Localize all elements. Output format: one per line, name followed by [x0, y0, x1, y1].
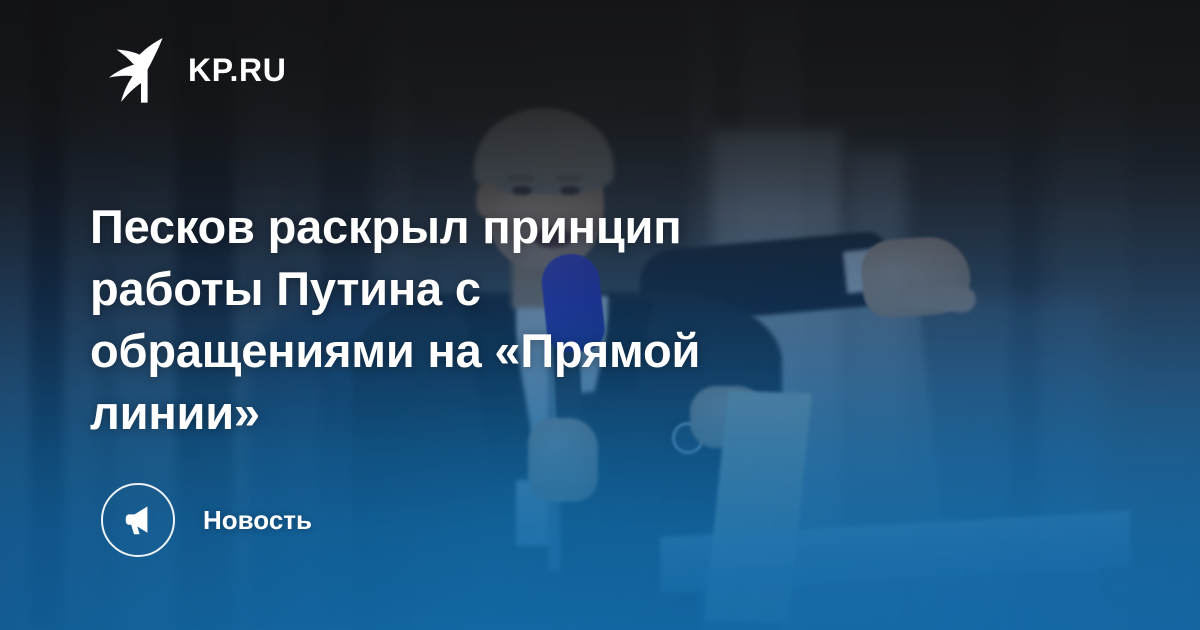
- brand-lockup[interactable]: KP.RU: [100, 36, 286, 104]
- status-badge[interactable]: Новость: [101, 483, 312, 557]
- megaphone-icon: [101, 483, 175, 557]
- page-title: Песков раскрыл принцип работы Путина с о…: [90, 196, 790, 444]
- status-badge-label: Новость: [203, 507, 312, 533]
- swallow-bird-icon: [100, 36, 170, 104]
- card-content: KP.RU Песков раскрыл принцип работы Пути…: [0, 0, 1200, 630]
- brand-name: KP.RU: [188, 54, 286, 86]
- news-share-card: KP.RU Песков раскрыл принцип работы Пути…: [0, 0, 1200, 630]
